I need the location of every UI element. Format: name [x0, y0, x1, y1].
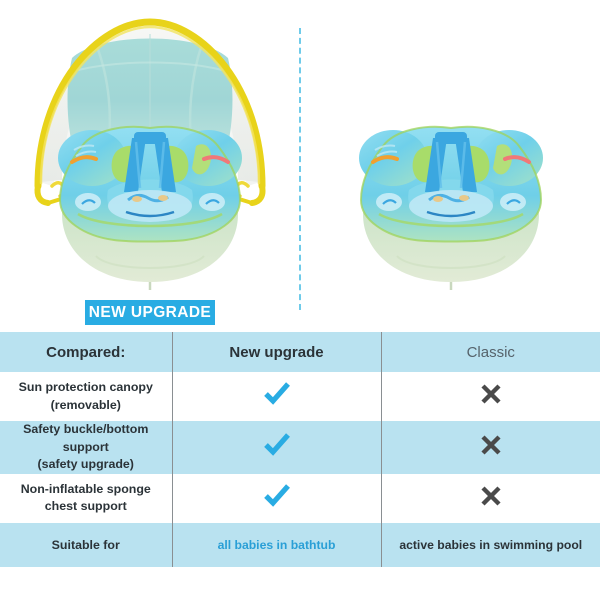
value-new-safety-buckle [172, 421, 381, 474]
checkmark-icon [262, 381, 292, 407]
header-classic: Classic [381, 332, 600, 372]
table-row: Non-inflatable sponge chest support [0, 474, 600, 523]
value-new-sponge-chest [172, 474, 381, 523]
feature-line-1: Safety buckle/bottom support [23, 422, 148, 454]
feature-line-2: chest support [0, 498, 172, 516]
table-header-row: Compared: New upgrade Classic [0, 332, 600, 372]
checkmark-icon [262, 483, 292, 509]
table-row: Suitable for all babies in bathtub activ… [0, 523, 600, 567]
product-showcase: NEW UPGRADE [0, 0, 600, 332]
product-image-new-upgrade [0, 0, 299, 292]
feature-line-2: (removable) [0, 397, 172, 415]
header-compared: Compared: [0, 332, 172, 372]
value-classic-sponge-chest [381, 474, 600, 523]
product-panel-classic[interactable]: CLASSIC [301, 0, 600, 332]
product-panel-new-upgrade[interactable]: NEW UPGRADE [0, 0, 299, 332]
feature-label-suitable-for: Suitable for [0, 523, 172, 567]
feature-line-1: Sun protection canopy [19, 380, 153, 394]
cross-icon [478, 381, 504, 407]
checkmark-icon [262, 432, 292, 458]
comparison-table: Compared: New upgrade Classic Sun protec… [0, 332, 600, 567]
header-new-upgrade: New upgrade [172, 332, 381, 372]
table-row: Sun protection canopy (removable) [0, 372, 600, 421]
cross-icon [478, 432, 504, 458]
table-row: Safety buckle/bottom support (safety upg… [0, 421, 600, 474]
value-new-canopy [172, 372, 381, 421]
feature-label-canopy: Sun protection canopy (removable) [0, 372, 172, 421]
value-classic-suitable-for: active babies in swimming pool [381, 523, 600, 567]
value-classic-safety-buckle [381, 421, 600, 474]
value-classic-canopy [381, 372, 600, 421]
feature-label-safety-buckle: Safety buckle/bottom support (safety upg… [0, 421, 172, 474]
product-image-classic [301, 0, 600, 292]
cross-icon [478, 483, 504, 509]
value-new-suitable-for: all babies in bathtub [172, 523, 381, 567]
feature-line-2: (safety upgrade) [0, 456, 172, 474]
feature-label-sponge-chest: Non-inflatable sponge chest support [0, 474, 172, 523]
badge-new-upgrade[interactable]: NEW UPGRADE [85, 300, 215, 325]
feature-line-1: Non-inflatable sponge [21, 482, 151, 496]
